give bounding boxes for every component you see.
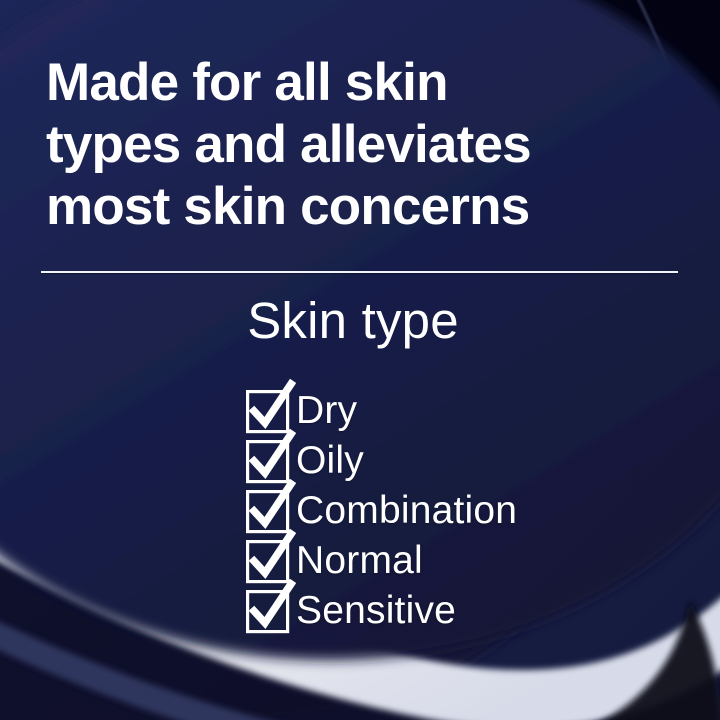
section-title: Skin type — [0, 292, 706, 350]
list-item[interactable]: Sensitive — [246, 586, 666, 636]
checkbox-checked-icon[interactable] — [246, 440, 288, 482]
checkbox-checked-icon[interactable] — [246, 390, 288, 432]
headline: Made for all skin types and alleviates m… — [46, 52, 666, 238]
skin-type-checklist: Dry Oily Combination — [246, 386, 666, 636]
list-item[interactable]: Combination — [246, 486, 666, 536]
checkbox-checked-icon[interactable] — [246, 540, 288, 582]
list-item-label: Sensitive — [296, 590, 456, 632]
checkbox-checked-icon[interactable] — [246, 590, 288, 632]
horizontal-divider — [41, 271, 678, 273]
headline-line-3: most skin concerns — [46, 176, 666, 238]
list-item-label: Normal — [296, 540, 423, 582]
list-item-label: Oily — [296, 440, 364, 482]
promo-graphic: Made for all skin types and alleviates m… — [0, 0, 720, 720]
list-item[interactable]: Normal — [246, 536, 666, 586]
headline-line-1: Made for all skin — [46, 52, 666, 114]
checkbox-checked-icon[interactable] — [246, 490, 288, 532]
list-item[interactable]: Dry — [246, 386, 666, 436]
list-item[interactable]: Oily — [246, 436, 666, 486]
list-item-label: Dry — [296, 390, 357, 432]
headline-line-2: types and alleviates — [46, 114, 666, 176]
list-item-label: Combination — [296, 490, 517, 532]
